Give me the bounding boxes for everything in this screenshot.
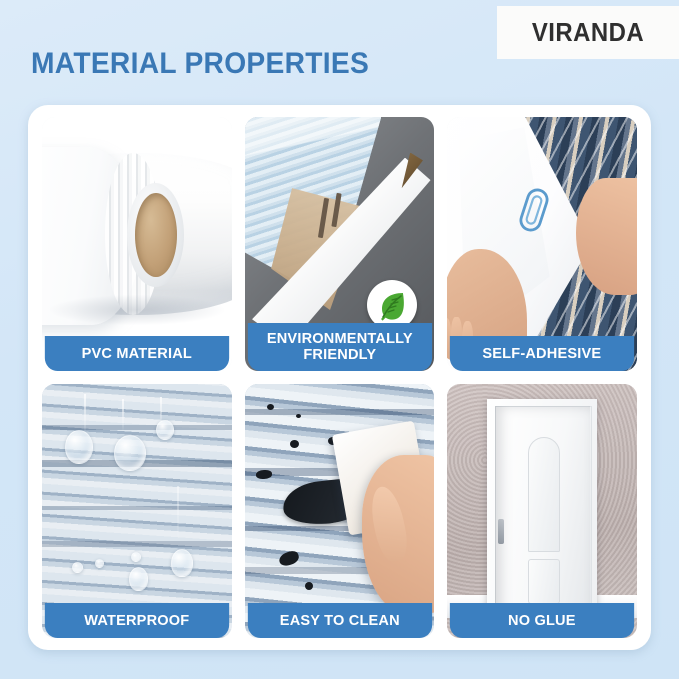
brand-name: VIRANDA [532, 17, 644, 48]
easy-to-clean-image [245, 384, 435, 638]
feature-grid: PVC MATERIAL [42, 117, 637, 638]
feature-label-waterproof: WATERPROOF [45, 603, 229, 638]
feature-tile-no-glue[interactable]: NO GLUE [447, 384, 637, 638]
label-line: WATERPROOF [84, 613, 189, 629]
label-line: EASY TO CLEAN [279, 613, 399, 629]
feature-label-environmentally-friendly: ENVIRONMENTALLY FRIENDLY [248, 323, 432, 371]
feature-label-self-adhesive: SELF-ADHESIVE [450, 336, 634, 371]
label-line: SELF-ADHESIVE [483, 346, 602, 362]
waterproof-image [42, 384, 232, 638]
feature-label-easy-to-clean: EASY TO CLEAN [248, 603, 432, 638]
label-line: PVC MATERIAL [82, 346, 192, 362]
feature-tile-self-adhesive[interactable]: SELF-ADHESIVE [447, 117, 637, 371]
feature-tile-waterproof[interactable]: WATERPROOF [42, 384, 232, 638]
feature-tile-easy-to-clean[interactable]: EASY TO CLEAN [245, 384, 435, 638]
feature-tile-pvc-material[interactable]: PVC MATERIAL [42, 117, 232, 371]
feature-tile-environmentally-friendly[interactable]: ENVIRONMENTALLY FRIENDLY [245, 117, 435, 371]
label-line: ENVIRONMENTALLY [266, 331, 412, 347]
label-line: FRIENDLY [266, 347, 412, 363]
roll-core [135, 193, 177, 277]
feature-card: PVC MATERIAL [28, 105, 651, 650]
feature-label-pvc-material: PVC MATERIAL [45, 336, 229, 371]
pvc-roll-image [42, 117, 232, 371]
brand-logo-box: VIRANDA [497, 6, 679, 59]
no-glue-door-image [447, 384, 637, 638]
product-infographic: VIRANDA MATERIAL PROPERTIES PVC MATERIAL [0, 0, 679, 679]
self-adhesive-image [447, 117, 637, 371]
page-title: MATERIAL PROPERTIES [31, 47, 369, 81]
feature-label-no-glue: NO GLUE [450, 603, 634, 638]
label-line: NO GLUE [508, 613, 576, 629]
